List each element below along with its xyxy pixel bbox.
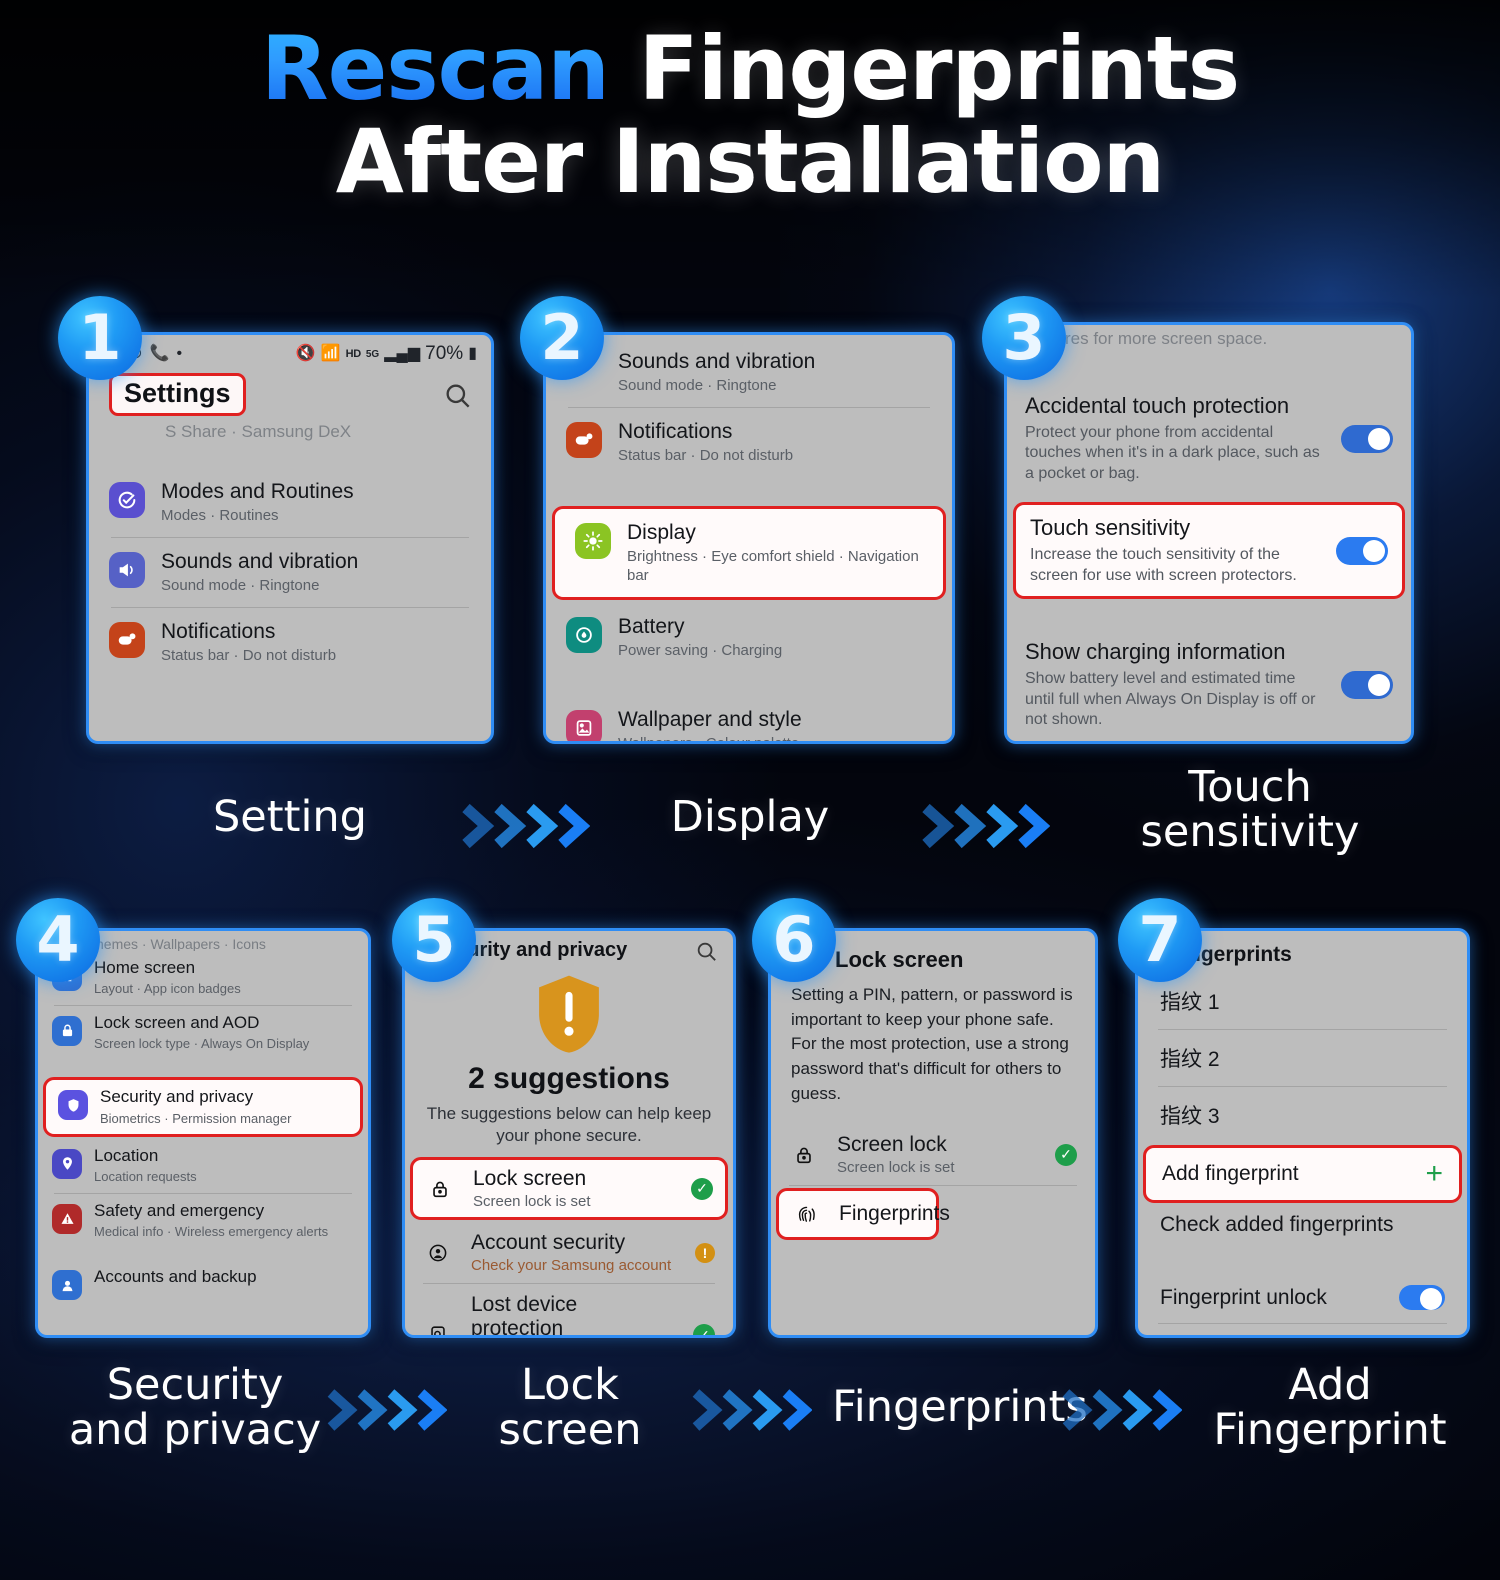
emergency-icon	[52, 1204, 82, 1234]
title-rescan: Rescan	[261, 17, 609, 120]
list-item-lost-device[interactable]: Lost device protection This phone is all…	[405, 1284, 733, 1338]
arrow-group-1	[460, 800, 590, 852]
panel-step-6[interactable]: Lock screen Setting a PIN, pattern, or p…	[768, 928, 1098, 1338]
list-item[interactable]: Wallpaper and style Wallpapers · Colour …	[546, 696, 952, 745]
page-title: Lock screen	[835, 947, 963, 973]
list-item-title: Fingerprints	[839, 1202, 950, 1226]
lock-icon	[789, 1140, 819, 1170]
list-item-fingerprint[interactable]: 指纹 2	[1138, 1030, 1467, 1086]
suggestions-count: 2 suggestions	[468, 1062, 670, 1096]
list-item[interactable]: Notifications Status bar · Do not distur…	[89, 608, 491, 677]
network-label: 5G	[366, 349, 379, 360]
page-title: Settings	[124, 378, 231, 408]
setting-description: Show battery level and estimated time un…	[1025, 669, 1327, 730]
list-item-title: Accounts and backup	[94, 1267, 354, 1287]
list-item-screen-lock[interactable]: Screen lock Screen lock is set ✓	[771, 1124, 1095, 1185]
list-item[interactable]: Location Location requests	[38, 1139, 368, 1193]
toggle-show-charging-info[interactable]	[1341, 671, 1393, 699]
panel-step-7[interactable]: ngerprints 指纹 1 指纹 2 指纹 3 Add fingerprin…	[1135, 928, 1470, 1338]
list-item-display-highlighted[interactable]: Display Brightness · Eye comfort shield …	[552, 506, 946, 600]
list-item-title: Modes and Routines	[161, 479, 471, 504]
list-item-title: Location	[94, 1146, 354, 1166]
list-item-title: Wallpaper and style	[618, 707, 932, 732]
step-badge-3: 3	[982, 296, 1066, 380]
panel-step-3[interactable]: res for more screen space. Accidental to…	[1004, 322, 1414, 744]
list-item[interactable]: Safety and emergency Medical info · Wire…	[38, 1194, 368, 1248]
list-item-subtitle: Status bar · Do not disturb	[618, 447, 932, 466]
list-item-title: Notifications	[161, 619, 471, 644]
step-badge-5: 5	[392, 898, 476, 982]
list-item-subtitle: Screen lock type · Always On Display	[94, 1036, 354, 1052]
list-item[interactable]: Battery Power saving · Charging	[546, 603, 952, 672]
wallpaper-icon	[566, 710, 602, 745]
setting-fingerprint-always-on[interactable]: Fingerprint always on	[1138, 1324, 1467, 1338]
dot-icon: •	[176, 346, 182, 362]
list-item-title: Battery	[618, 614, 932, 639]
list-item-title: Home screen	[94, 958, 354, 978]
panel-step-4[interactable]: hemes · Wallpapers · Icons Home screen L…	[35, 928, 371, 1338]
location-pin-icon	[52, 1149, 82, 1179]
search-icon[interactable]	[695, 940, 717, 962]
sound-icon	[109, 552, 145, 588]
step-badge-4: 4	[16, 898, 100, 982]
setting-accidental-touch[interactable]: Accidental touch protection Protect your…	[1007, 383, 1411, 494]
setting-fingerprint-unlock[interactable]: Fingerprint unlock	[1138, 1272, 1467, 1323]
notifications-icon	[109, 622, 145, 658]
list-item-title: Screen lock	[837, 1133, 1037, 1157]
battery-percent: 70%	[425, 343, 463, 365]
list-item-title: Notifications	[618, 419, 932, 444]
setting-title: Accidental touch protection	[1025, 393, 1327, 419]
list-item-title: Sounds and vibration	[618, 349, 932, 374]
list-item-subtitle: Location requests	[94, 1169, 354, 1185]
list-item-subtitle: Biometrics · Permission manager	[100, 1111, 348, 1127]
mute-icon: 🔇	[296, 346, 316, 362]
setting-description: Protect your phone from accidental touch…	[1025, 423, 1327, 484]
notifications-icon	[566, 422, 602, 458]
list-item-subtitle: Screen lock is set	[473, 1193, 673, 1210]
shield-icon	[58, 1090, 88, 1120]
list-item-subtitle: Screen lock is set	[837, 1159, 1037, 1176]
wifi-icon: 📶	[321, 346, 341, 362]
list-item-fingerprints-highlighted[interactable]: Fingerprints	[776, 1188, 939, 1240]
warning-shield-icon	[530, 970, 608, 1058]
list-item[interactable]: Notifications Status bar · Do not distur…	[546, 408, 952, 477]
fingerprint-label: 指纹 3	[1160, 1100, 1220, 1130]
battery-icon: ▮	[468, 346, 477, 362]
status-check-icon: ✓	[691, 1178, 713, 1200]
panel-step-1[interactable]: ▣ ⊗ 📞 • 🔇 📶 HD 5G ▂▄▆ 70% ▮ Settings S S…	[86, 332, 494, 744]
setting-title: Show charging information	[1025, 639, 1327, 665]
status-warning-icon: !	[695, 1243, 715, 1263]
list-item-subtitle: Modes · Routines	[161, 507, 471, 526]
setting-title: Touch sensitivity	[1030, 515, 1322, 541]
list-item-subtitle: Medical info · Wireless emergency alerts	[94, 1224, 354, 1240]
panel-step-5[interactable]: ecurity and privacy 2 suggestions The su…	[402, 928, 736, 1338]
list-item-subtitle: Wallpapers · Colour palette	[618, 735, 932, 744]
list-item-fingerprint[interactable]: 指纹 1	[1138, 973, 1467, 1029]
step-badge-1: 1	[58, 296, 142, 380]
list-item-title: Display	[627, 520, 923, 545]
settings-title-row: Settings	[89, 369, 491, 422]
caption-touch-sensitivity: Touch sensitivity	[1080, 765, 1420, 855]
list-item-subtitle: Brightness · Eye comfort shield · Naviga…	[627, 548, 923, 586]
search-icon[interactable]	[443, 381, 471, 409]
lock-screen-description: Setting a PIN, pattern, or password is i…	[771, 977, 1095, 1110]
list-item-title: Safety and emergency	[94, 1201, 354, 1221]
accounts-icon	[52, 1270, 82, 1300]
list-item-subtitle: Status bar · Do not disturb	[161, 647, 471, 666]
setting-show-charging-info[interactable]: Show charging information Show battery l…	[1007, 629, 1411, 740]
add-fingerprint-label: Add fingerprint	[1162, 1162, 1299, 1186]
list-item[interactable]: Lock screen and AOD Screen lock type · A…	[38, 1006, 368, 1060]
setting-description: Increase the touch sensitivity of the sc…	[1030, 545, 1322, 586]
plus-icon: +	[1425, 1159, 1443, 1189]
divider	[789, 1185, 1077, 1186]
fingerprint-label: 指纹 2	[1160, 1043, 1220, 1073]
caption-security-and-privacy: Security and privacy	[60, 1363, 330, 1453]
list-item[interactable]: Modes and Routines Modes · Routines	[89, 468, 491, 537]
toggle-fingerprint-always-on[interactable]	[1399, 1337, 1445, 1338]
list-item-subtitle: Sound mode · Ringtone	[618, 377, 932, 396]
toggle-touch-sensitivity[interactable]	[1336, 537, 1388, 565]
caption-lock-screen: Lock screen	[470, 1363, 670, 1453]
list-item-title: Lock screen and AOD	[94, 1013, 354, 1033]
step-badge-6: 6	[752, 898, 836, 982]
battery-settings-icon	[566, 617, 602, 653]
settings-title-highlight: Settings	[109, 373, 246, 416]
page-header: Rescan Fingerprints After Installation	[0, 22, 1500, 209]
list-item[interactable]: Accounts and backup	[38, 1263, 368, 1304]
toggle-accidental-touch[interactable]	[1341, 425, 1393, 453]
partial-row-top: res for more screen space.	[1007, 325, 1411, 347]
status-check-icon: ✓	[1055, 1144, 1077, 1166]
call-location-icon: 📞	[150, 346, 170, 362]
lock-icon	[425, 1174, 455, 1204]
hd-label: HD	[346, 348, 361, 360]
suggestions-header: 2 suggestions The suggestions below can …	[405, 964, 733, 1155]
suggestions-description: The suggestions below can help keep your…	[423, 1103, 715, 1147]
fingerprint-label: 指纹 1	[1160, 986, 1220, 1016]
list-item-subtitle: Sound mode · Ringtone	[161, 577, 471, 596]
arrow-group-2	[920, 800, 1050, 852]
add-fingerprint-button-highlighted[interactable]: Add fingerprint +	[1143, 1145, 1462, 1203]
list-item-subtitle: Layout · App icon badges	[94, 981, 354, 997]
list-item-title: Lock screen	[473, 1167, 673, 1191]
step-badge-7: 7	[1118, 898, 1202, 982]
arrow-group-5	[1060, 1385, 1182, 1435]
toggle-fingerprint-unlock[interactable]	[1399, 1285, 1445, 1310]
setting-label: Fingerprint always on	[1160, 1338, 1360, 1339]
find-device-icon	[423, 1320, 453, 1338]
list-item-security-highlighted[interactable]: Security and privacy Biometrics · Permis…	[43, 1077, 363, 1137]
lock-icon	[52, 1016, 82, 1046]
list-item-title: Account security	[471, 1231, 677, 1255]
caption-display: Display	[620, 795, 880, 840]
title-fingerprints: Fingerprints	[639, 17, 1240, 120]
status-check-icon: ✓	[693, 1324, 715, 1338]
check-added-label: Check added fingerprints	[1160, 1213, 1393, 1237]
check-added-fingerprints-button[interactable]: Check added fingerprints	[1138, 1205, 1467, 1250]
setting-label: Fingerprint unlock	[1160, 1286, 1327, 1310]
account-icon	[423, 1238, 453, 1268]
title-line-1: Rescan Fingerprints	[0, 22, 1500, 115]
status-bar: ▣ ⊗ 📞 • 🔇 📶 HD 5G ▂▄▆ 70% ▮	[89, 335, 491, 369]
list-item-subtitle: Power saving · Charging	[618, 642, 932, 661]
list-item-lock-screen-highlighted[interactable]: Lock screen Screen lock is set ✓	[410, 1157, 728, 1220]
title-line-2: After Installation	[0, 115, 1500, 208]
list-item-title: Lost device protection	[471, 1293, 675, 1338]
list-item-subtitle: Check your Samsung account	[471, 1257, 677, 1274]
fingerprint-icon	[791, 1199, 821, 1229]
list-item[interactable]: Sounds and vibration Sound mode · Ringto…	[546, 335, 952, 407]
arrow-group-3	[325, 1385, 447, 1435]
list-item[interactable]: Sounds and vibration Sound mode · Ringto…	[89, 538, 491, 607]
caption-add-fingerprint: Add Fingerprint	[1180, 1363, 1480, 1453]
partial-row-top: S Share · Samsung DeX	[89, 422, 491, 442]
list-item-fingerprint[interactable]: 指纹 3	[1138, 1087, 1467, 1143]
signal-bars-icon: ▂▄▆	[384, 346, 420, 362]
panel-step-2[interactable]: Sounds and vibration Sound mode · Ringto…	[543, 332, 955, 744]
modes-routines-icon	[109, 482, 145, 518]
step-badge-2: 2	[520, 296, 604, 380]
setting-touch-sensitivity-highlighted[interactable]: Touch sensitivity Increase the touch sen…	[1013, 502, 1405, 599]
list-item-title: Security and privacy	[100, 1087, 348, 1107]
display-icon	[575, 523, 611, 559]
arrow-group-4	[690, 1385, 812, 1435]
list-item-account-security[interactable]: Account security Check your Samsung acco…	[405, 1222, 733, 1283]
list-item-title: Sounds and vibration	[161, 549, 471, 574]
caption-setting: Setting	[150, 795, 430, 840]
